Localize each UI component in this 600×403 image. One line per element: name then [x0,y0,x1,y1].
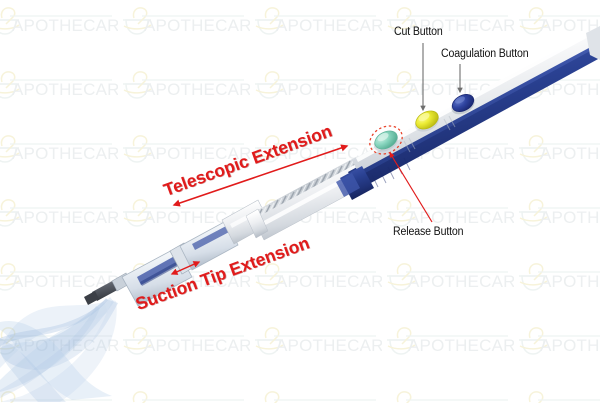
release-button-label: Release Button [393,226,463,238]
cut-button-label: Cut Button [394,26,443,38]
release-button-highlight [365,121,407,160]
annotation-layer [0,0,600,403]
coagulation-button-label: Coagulation Button [441,48,529,60]
release-button-leader [390,153,432,222]
product-diagram-canvas: APOTHECAREAPOTHECAREAPOTHECAREAPOTHECARE… [0,0,600,403]
